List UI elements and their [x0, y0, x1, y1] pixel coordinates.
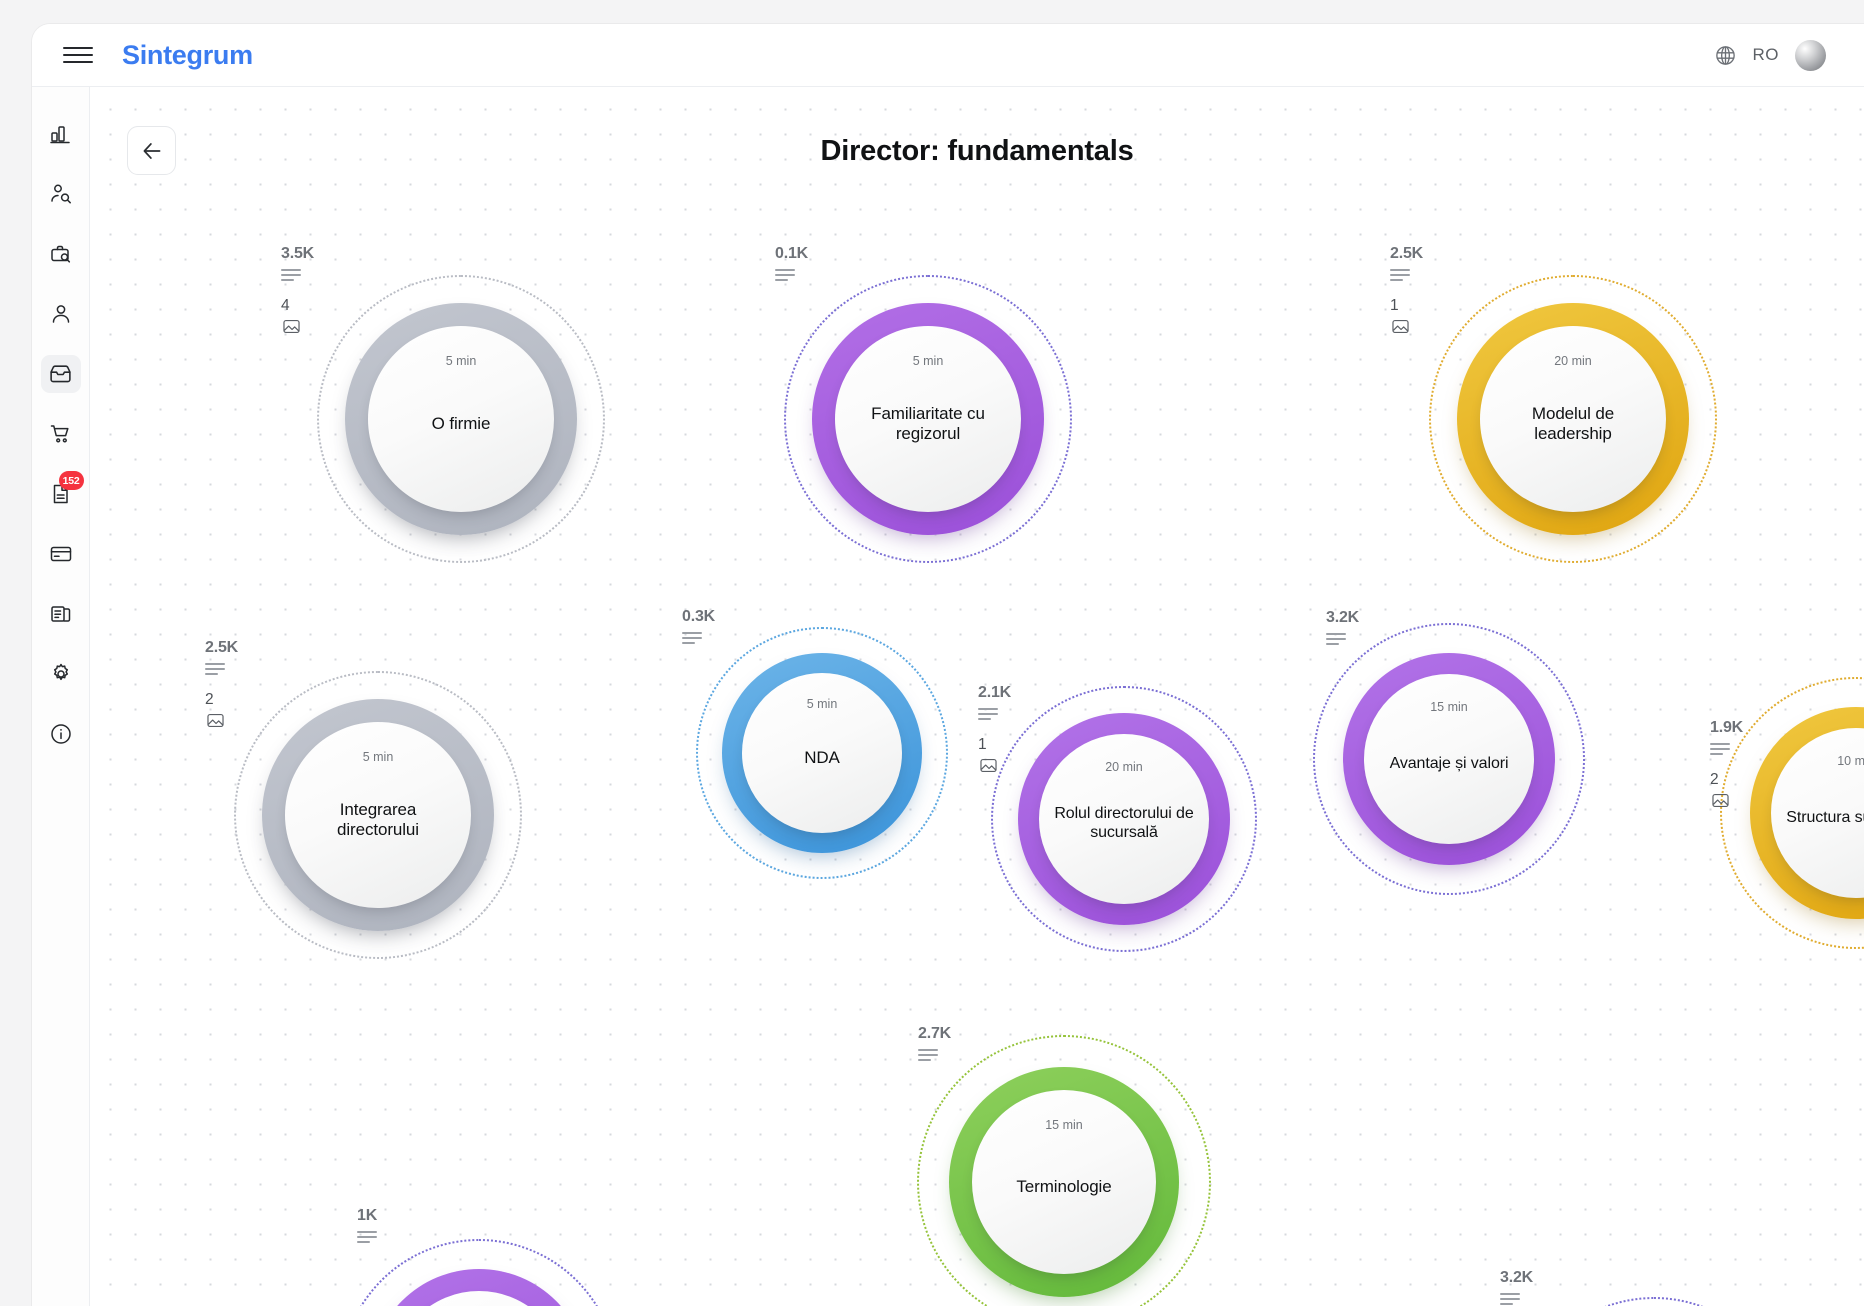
- text-lines-icon: [978, 708, 998, 720]
- image-meta: 1: [978, 736, 999, 775]
- node-duration: 5 min: [446, 354, 477, 368]
- image-meta: 4: [281, 297, 302, 336]
- node-ring: 20 min Rolul directorului de sucursală: [1018, 713, 1230, 925]
- node-ring: 20 min Modelul de leadership: [1457, 303, 1689, 535]
- node-disc[interactable]: 5 min Integrarea directorului: [285, 722, 471, 908]
- image-meta: 2: [1710, 771, 1731, 810]
- node-ring: 5 min Integrarea directorului: [262, 699, 494, 931]
- sidebar-item-profile[interactable]: [41, 295, 81, 333]
- node-halo: [1515, 1297, 1793, 1306]
- node-duration: 15 min: [1430, 700, 1468, 714]
- top-bar-actions: RO: [1714, 40, 1827, 71]
- top-bar: Sintegrum RO: [32, 24, 1864, 87]
- word-count: 2.5K: [205, 639, 238, 657]
- image-icon: [978, 756, 999, 775]
- node-meta-integrarea: 2.5K 2: [205, 639, 238, 730]
- image-icon: [281, 317, 302, 336]
- inbox-icon: [48, 362, 73, 387]
- word-count: 0.1K: [775, 245, 808, 263]
- node-title: Avantaje și valori: [1376, 755, 1523, 774]
- word-count: 3.2K: [1326, 609, 1359, 627]
- node-familiaritate[interactable]: 5 min Familiaritate cu regizorul: [812, 303, 1044, 535]
- word-count: 3.2K: [1500, 1269, 1533, 1287]
- image-icon: [205, 711, 226, 730]
- node-disc[interactable]: 10 min Responsabilitatea financiară: [392, 1291, 566, 1306]
- node-meta-bottom-right: 3.2K 1: [1500, 1269, 1533, 1306]
- sidebar: 152: [32, 87, 90, 1306]
- node-structura[interactable]: 10 min Structura sucursalei: [1750, 707, 1864, 919]
- node-meta-modelul: 2.5K 1: [1390, 245, 1423, 336]
- node-ring: 5 min O firmie: [345, 303, 577, 535]
- node-title: Structura sucursalei: [1772, 809, 1864, 828]
- sidebar-item-settings[interactable]: [41, 655, 81, 693]
- arrow-left-icon: [139, 138, 165, 164]
- sidebar-item-info[interactable]: [41, 715, 81, 753]
- avatar[interactable]: [1795, 40, 1826, 71]
- text-lines-icon: [682, 632, 702, 644]
- node-disc[interactable]: 10 min Structura sucursalei: [1771, 728, 1864, 898]
- node-duration: 15 min: [1045, 1118, 1083, 1132]
- image-count: 1: [978, 736, 987, 754]
- node-duration: 20 min: [1105, 760, 1143, 774]
- node-meta-rolul: 2.1K 1: [978, 684, 1011, 775]
- node-disc[interactable]: 15 min Avantaje și valori: [1364, 674, 1534, 844]
- word-count: 3.5K: [281, 245, 314, 263]
- node-disc[interactable]: 20 min Rolul directorului de sucursală: [1039, 734, 1209, 904]
- gear-icon: [49, 662, 73, 686]
- text-lines-icon: [281, 269, 301, 281]
- node-nda[interactable]: 5 min NDA: [722, 653, 922, 853]
- user-search-icon: [49, 182, 73, 206]
- sidebar-item-billing[interactable]: [41, 535, 81, 573]
- node-disc[interactable]: 5 min NDA: [742, 673, 902, 833]
- sidebar-item-documents[interactable]: 152: [41, 475, 81, 513]
- node-title: Familiaritate cu regizorul: [835, 404, 1021, 444]
- book-icon: [49, 602, 73, 626]
- word-count: 2.7K: [918, 1025, 951, 1043]
- node-ring: 5 min NDA: [722, 653, 922, 853]
- image-icon: [1390, 317, 1411, 336]
- sidebar-item-candidate-search[interactable]: [41, 175, 81, 213]
- sidebar-item-jobs[interactable]: [41, 235, 81, 273]
- documents-badge: 152: [59, 471, 84, 490]
- text-lines-icon: [918, 1049, 938, 1061]
- node-duration: 20 min: [1554, 354, 1592, 368]
- node-meta-structura: 1.9K 2: [1710, 719, 1743, 810]
- hamburger-icon[interactable]: [63, 44, 93, 66]
- node-meta-familiaritate: 0.1K: [775, 245, 808, 281]
- node-integrarea[interactable]: 5 min Integrarea directorului: [262, 699, 494, 931]
- sidebar-item-orders[interactable]: [41, 415, 81, 453]
- node-duration: 5 min: [807, 697, 838, 711]
- node-duration: 10 min: [1837, 754, 1864, 768]
- node-rolul[interactable]: 20 min Rolul directorului de sucursală: [1018, 713, 1230, 925]
- bar-chart-icon: [49, 122, 73, 146]
- node-disc[interactable]: 5 min Familiaritate cu regizorul: [835, 326, 1021, 512]
- node-disc[interactable]: 20 min Modelul de leadership: [1480, 326, 1666, 512]
- node-meta-nda: 0.3K: [682, 608, 715, 644]
- node-title: Terminologie: [1002, 1177, 1125, 1197]
- node-meta-o-firmie: 3.5K 4: [281, 245, 314, 336]
- node-o-firmie[interactable]: 5 min O firmie: [345, 303, 577, 535]
- flow-canvas[interactable]: Director: fundamentals: [90, 87, 1864, 1306]
- image-count: 2: [1710, 771, 1719, 789]
- text-lines-icon: [775, 269, 795, 281]
- image-count: 1: [1390, 297, 1399, 315]
- node-title: NDA: [790, 748, 854, 768]
- node-ring: 15 min Terminologie: [949, 1067, 1179, 1297]
- briefcase-search-icon: [49, 242, 73, 266]
- sidebar-item-analytics[interactable]: [41, 115, 81, 153]
- credit-card-icon: [49, 542, 73, 566]
- text-lines-icon: [1500, 1293, 1520, 1305]
- node-modelul[interactable]: 20 min Modelul de leadership: [1457, 303, 1689, 535]
- globe-icon[interactable]: [1714, 44, 1737, 67]
- app-window: Sintegrum RO: [32, 24, 1864, 1306]
- node-ring: 15 min Avantaje și valori: [1343, 653, 1555, 865]
- image-meta: 2: [205, 691, 226, 730]
- text-lines-icon: [357, 1231, 377, 1243]
- sidebar-item-library[interactable]: [41, 595, 81, 633]
- text-lines-icon: [205, 663, 225, 675]
- desktop-background: Sintegrum RO: [0, 0, 1864, 1306]
- language-selector[interactable]: RO: [1753, 45, 1780, 65]
- node-title: Rolul directorului de sucursală: [1039, 805, 1209, 843]
- image-count: 2: [205, 691, 214, 709]
- node-terminologie[interactable]: 15 min Terminologie: [949, 1067, 1179, 1297]
- node-disc[interactable]: 5 min O firmie: [368, 326, 554, 512]
- info-icon: [49, 722, 73, 746]
- node-responsabilitatea[interactable]: 10 min Responsabilitatea financiară: [370, 1269, 588, 1306]
- cart-icon: [49, 422, 73, 446]
- word-count: 1K: [357, 1207, 377, 1225]
- word-count: 2.5K: [1390, 245, 1423, 263]
- node-meta-responsabilitatea: 1K: [357, 1207, 377, 1243]
- node-title: Integrarea directorului: [285, 800, 471, 840]
- brand-logo[interactable]: Sintegrum: [122, 40, 253, 71]
- node-title: O firmie: [418, 414, 505, 434]
- node-ring: 5 min Familiaritate cu regizorul: [812, 303, 1044, 535]
- text-lines-icon: [1390, 269, 1410, 281]
- word-count: 1.9K: [1710, 719, 1743, 737]
- node-disc[interactable]: 15 min Terminologie: [972, 1090, 1156, 1274]
- node-meta-avantaje: 3.2K: [1326, 609, 1359, 645]
- user-icon: [49, 302, 73, 326]
- word-count: 2.1K: [978, 684, 1011, 702]
- node-meta-terminologie: 2.7K: [918, 1025, 951, 1061]
- node-duration: 5 min: [913, 354, 944, 368]
- word-count: 0.3K: [682, 608, 715, 626]
- image-count: 4: [281, 297, 290, 315]
- text-lines-icon: [1326, 633, 1346, 645]
- sidebar-item-inbox[interactable]: [41, 355, 81, 393]
- back-button[interactable]: [127, 126, 176, 175]
- image-icon: [1710, 791, 1731, 810]
- text-lines-icon: [1710, 743, 1730, 755]
- node-duration: 5 min: [363, 750, 394, 764]
- node-title: Modelul de leadership: [1480, 404, 1666, 444]
- node-avantaje[interactable]: 15 min Avantaje și valori: [1343, 653, 1555, 865]
- image-meta: 1: [1390, 297, 1411, 336]
